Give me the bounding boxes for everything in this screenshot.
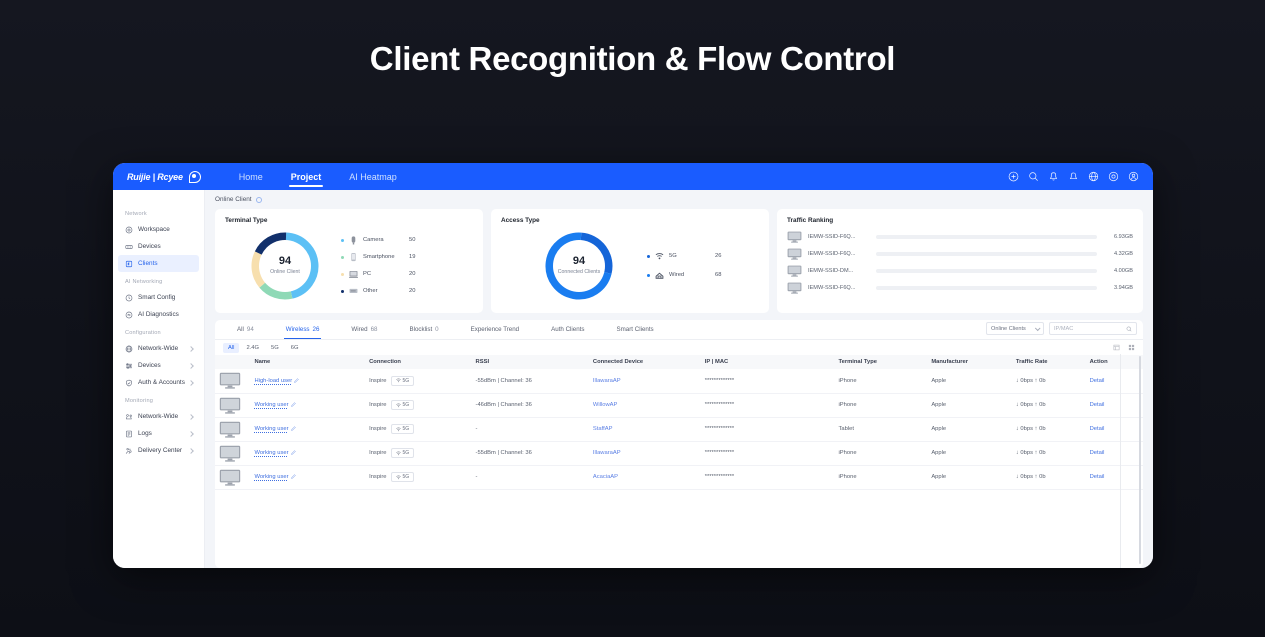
reyee-logo-icon	[189, 171, 201, 183]
traffic-device-name: IEMW-SSID-F6Q...	[808, 285, 870, 291]
clients-table: NameConnectionRSSIConnected DeviceIP | M…	[215, 355, 1143, 490]
clients-table-head: NameConnectionRSSIConnected DeviceIP | M…	[215, 355, 1143, 369]
row-device-icon-cell	[215, 465, 250, 489]
sidebar-item-smart-config[interactable]: Smart Config	[118, 289, 199, 306]
tab-wired[interactable]: Wired68	[335, 320, 393, 339]
row-connected-device-cell: IllawaraAP	[589, 441, 701, 465]
detail-link[interactable]: Detail	[1090, 450, 1105, 456]
traffic-progress-bar	[876, 235, 1097, 239]
row-connection-cell: Inspire5G	[365, 417, 471, 441]
access-legend: 5G26Wired68	[647, 251, 721, 280]
row-terminal-type-cell: iPhone	[835, 369, 928, 393]
wifi-icon	[396, 475, 401, 480]
sidebar-item-devices[interactable]: Devices	[118, 357, 199, 374]
row-name-cell: Working user	[250, 441, 365, 465]
list-view-icon[interactable]	[1113, 344, 1120, 351]
legend-color-dot	[647, 255, 650, 258]
client-name-link[interactable]: High-load user	[254, 378, 292, 384]
legend-label: Wired	[669, 272, 715, 278]
row-action-cell: Detail	[1086, 369, 1143, 393]
row-device-icon-cell	[215, 441, 250, 465]
tab-label: Blocklist	[409, 326, 432, 333]
sliders-icon	[125, 362, 133, 370]
camera-icon	[349, 235, 358, 245]
connection-ssid: Inspire	[369, 426, 386, 432]
monitor-icon	[219, 397, 241, 414]
workspace-icon	[125, 226, 133, 234]
row-connected-device-cell: AcaciaAP	[589, 465, 701, 489]
detail-link[interactable]: Detail	[1090, 378, 1105, 384]
terminal-donut-center: 94 Online Client	[259, 240, 311, 292]
diagnostics-icon	[125, 311, 133, 319]
table-row[interactable]: Working userInspire5G-AcaciaAP**********…	[215, 465, 1143, 489]
column-header: Connection	[365, 355, 471, 369]
connected-device-link[interactable]: StaffAP	[593, 426, 613, 432]
row-device-icon-cell	[215, 369, 250, 393]
traffic-value: 4.32GB	[1103, 251, 1133, 257]
tab-blocklist[interactable]: Blocklist0	[393, 320, 454, 339]
slide-root: Client Recognition & Flow Control Ruijie…	[0, 0, 1265, 637]
card-terminal-type: Terminal Type 94 Online Client Camera50S…	[215, 209, 483, 313]
access-donut-center: 94 Connected Clients	[553, 240, 605, 292]
tab-smart-clients[interactable]: Smart Clients	[601, 320, 670, 339]
row-connection-cell: Inspire5G	[365, 369, 471, 393]
tab-label: All	[237, 326, 244, 333]
row-device-icon-cell	[215, 393, 250, 417]
legend-item: PC20	[341, 269, 415, 279]
terminal-legend: Camera50Smartphone19PC20Other20	[341, 235, 415, 296]
traffic-progress-bar	[876, 286, 1097, 290]
band-filter-5g[interactable]: 5G	[266, 343, 284, 353]
column-header: Manufacturer	[927, 355, 1012, 369]
chevron-right-icon	[188, 346, 194, 352]
legend-label: 5G	[669, 253, 715, 259]
edit-icon[interactable]	[294, 378, 299, 383]
tab-count: 68	[371, 326, 378, 333]
traffic-ranking-list: IEMW-SSID-F6Q...6.93GBIEMW-SSID-F6Q...4.…	[787, 226, 1133, 294]
traffic-progress-bar	[876, 252, 1097, 256]
topology-icon	[125, 413, 133, 421]
traffic-ranking-row[interactable]: IEMW-SSID-F6Q...4.32GB	[787, 248, 1133, 260]
detail-link[interactable]: Detail	[1090, 474, 1105, 480]
band-badge: 5G	[391, 448, 415, 458]
tab-count: 0	[435, 326, 438, 333]
sidebar-item-label: Network-Wide	[138, 413, 178, 420]
column-header: Connected Device	[589, 355, 701, 369]
connection-ssid: Inspire	[369, 450, 386, 456]
wifi-icon	[655, 251, 664, 261]
band-filter-all[interactable]: All	[223, 343, 239, 353]
column-header: Terminal Type	[835, 355, 928, 369]
traffic-ranking-row[interactable]: IEMW-SSID-DM...4.00GB	[787, 265, 1133, 277]
legend-value: 68	[715, 272, 721, 278]
monitor-icon	[787, 282, 802, 294]
sidebar-item-network-wide[interactable]: Network-Wide	[118, 408, 199, 425]
row-connection-cell: Inspire5G	[365, 393, 471, 417]
row-ipmac-cell: *************	[701, 417, 835, 441]
sidebar-item-network-wide[interactable]: Network-Wide	[118, 340, 199, 357]
device-icon	[125, 243, 133, 251]
band-subfilters: All2.4G5G6G	[215, 340, 1143, 355]
row-traffic-rate-cell: ↓ 0bps ↑ 0b	[1012, 465, 1086, 489]
sidebar-group-label: Monitoring	[113, 391, 204, 408]
band-badge: 5G	[391, 472, 415, 482]
chevron-right-icon	[188, 431, 194, 437]
tab-label: Auth Clients	[551, 326, 584, 333]
row-name-cell: Working user	[250, 465, 365, 489]
row-terminal-type-cell: iPhone	[835, 393, 928, 417]
row-rssi-cell: -	[472, 465, 589, 489]
app-window: Ruijie | Rcyee HomeProjectAI Heatmap Net…	[113, 163, 1153, 568]
sidebar-item-workspace[interactable]: Workspace	[118, 221, 199, 238]
brand-logo[interactable]: Ruijie | Rcyee	[127, 171, 201, 183]
edit-icon[interactable]	[291, 474, 296, 479]
band-filter-2-4g[interactable]: 2.4G	[241, 343, 264, 353]
pc-icon	[349, 269, 358, 279]
sidebar-item-clients[interactable]: Clients	[118, 255, 199, 272]
terminal-center-value: 94	[279, 256, 291, 267]
top-navigation-bar: Ruijie | Rcyee HomeProjectAI Heatmap	[113, 163, 1153, 190]
traffic-value: 6.93GB	[1103, 234, 1133, 240]
connected-device-link[interactable]: WillowAP	[593, 402, 617, 408]
legend-item: Camera50	[341, 235, 415, 245]
band-label: 5G	[403, 450, 410, 456]
chevron-right-icon	[188, 363, 194, 369]
legend-color-dot	[341, 273, 344, 276]
legend-label: Smartphone	[363, 254, 409, 260]
legend-label: Other	[363, 288, 409, 294]
row-manufacturer-cell: Apple	[927, 441, 1012, 465]
wifi-icon	[396, 403, 401, 408]
client-name-link[interactable]: Working user	[254, 450, 288, 456]
connection-ssid: Inspire	[369, 474, 386, 480]
client-name-link[interactable]: Working user	[254, 426, 288, 432]
tab-all[interactable]: All94	[221, 320, 270, 339]
monitor-icon	[787, 231, 802, 243]
detail-link[interactable]: Detail	[1090, 426, 1105, 432]
page-title: Client Recognition & Flow Control	[0, 40, 1265, 78]
table-row[interactable]: Working userInspire5G-46dBm | Channel: 3…	[215, 393, 1143, 417]
plus-circle-icon[interactable]	[1008, 171, 1019, 182]
sidebar-item-devices[interactable]: Devices	[118, 238, 199, 255]
tab-label: Smart Clients	[617, 326, 654, 333]
legend-value: 50	[409, 237, 415, 243]
client-status-value: Online Clients	[991, 326, 1026, 332]
row-terminal-type-cell: iPhone	[835, 465, 928, 489]
legend-item: Wired68	[647, 270, 721, 280]
legend-label: Camera	[363, 237, 409, 243]
row-connected-device-cell: IllawaraAP	[589, 369, 701, 393]
row-rssi-cell: -46dBm | Channel: 36	[472, 393, 589, 417]
row-connected-device-cell: WillowAP	[589, 393, 701, 417]
wifi-icon	[396, 427, 401, 432]
clients-table-body: High-load userInspire5G-55dBm | Channel:…	[215, 369, 1143, 489]
chevron-right-icon	[188, 380, 194, 386]
traffic-value: 4.00GB	[1103, 268, 1133, 274]
row-action-cell: Detail	[1086, 441, 1143, 465]
table-row[interactable]: Working userInspire5G-StaffAP***********…	[215, 417, 1143, 441]
client-status-select[interactable]: Online Clients	[986, 322, 1044, 335]
chevron-right-icon	[188, 448, 194, 454]
row-manufacturer-cell: Apple	[927, 369, 1012, 393]
detail-link[interactable]: Detail	[1090, 402, 1105, 408]
tab-label: Wireless	[286, 326, 310, 333]
search-icon[interactable]	[1126, 326, 1132, 332]
client-name-link[interactable]: Working user	[254, 402, 288, 408]
legend-color-dot	[647, 274, 650, 277]
column-header	[215, 355, 250, 369]
sidebar-item-label: Workspace	[138, 226, 170, 233]
access-donut-chart: 94 Connected Clients	[543, 230, 615, 302]
sidebar-item-label: Auth & Accounts	[138, 379, 185, 386]
top-nav-icon-group	[1008, 163, 1139, 190]
delivery-icon	[125, 447, 133, 455]
row-rssi-cell: -55dBm | Channel: 36	[472, 369, 589, 393]
panel-toolbar: Online Clients IP/MAC	[986, 322, 1137, 335]
row-rssi-cell: -	[472, 417, 589, 441]
edit-icon[interactable]	[291, 426, 296, 431]
row-ipmac-cell: *************	[701, 369, 835, 393]
monitor-icon	[219, 372, 241, 389]
card-access-type: Access Type 94 Connected Clients 5G26Wir…	[491, 209, 769, 313]
traffic-value: 3.94GB	[1103, 285, 1133, 291]
row-traffic-rate-cell: ↓ 0bps ↑ 0b	[1012, 369, 1086, 393]
sidebar-item-logs[interactable]: Logs	[118, 425, 199, 442]
connected-device-link[interactable]: IllawaraAP	[593, 450, 621, 456]
legend-label: PC	[363, 271, 409, 277]
row-connection-cell: Inspire5G	[365, 465, 471, 489]
logs-icon	[125, 430, 133, 438]
shield-icon	[125, 379, 133, 387]
search-input[interactable]: IP/MAC	[1054, 326, 1073, 332]
app-body: NetworkWorkspaceDevicesClientsAI Network…	[113, 190, 1153, 568]
edit-icon[interactable]	[291, 402, 296, 407]
traffic-ranking-row[interactable]: IEMW-SSID-F6Q...3.94GB	[787, 282, 1133, 294]
tab-wireless[interactable]: Wireless26	[270, 320, 336, 339]
other-icon	[349, 286, 358, 296]
card-traffic-ranking: Traffic Ranking IEMW-SSID-F6Q...6.93GBIE…	[777, 209, 1143, 313]
clients-panel: All94Wireless26Wired68Blocklist0Experien…	[215, 320, 1143, 568]
top-nav-item-ai-heatmap[interactable]: AI Heatmap	[335, 163, 411, 190]
table-row[interactable]: High-load userInspire5G-55dBm | Channel:…	[215, 369, 1143, 393]
main-content: Online Client Terminal Type 94	[205, 190, 1153, 568]
connected-device-link[interactable]: AcaciaAP	[593, 474, 618, 480]
sidebar-group-label: AI Networking	[113, 272, 204, 289]
legend-value: 26	[715, 253, 721, 259]
band-label: 5G	[403, 378, 410, 384]
band-badge: 5G	[391, 376, 415, 386]
tab-auth-clients[interactable]: Auth Clients	[535, 320, 600, 339]
traffic-ranking-row[interactable]: IEMW-SSID-F6Q...6.93GB	[787, 231, 1133, 243]
edit-icon[interactable]	[291, 450, 296, 455]
monitor-icon	[219, 421, 241, 438]
network-wide-icon	[125, 345, 133, 353]
sidebar-group-label: Network	[113, 204, 204, 221]
wired-icon	[655, 270, 664, 280]
row-rssi-cell: -55dBm | Channel: 36	[472, 441, 589, 465]
sidebar: NetworkWorkspaceDevicesClientsAI Network…	[113, 190, 205, 568]
sidebar-item-auth-accounts[interactable]: Auth & Accounts	[118, 374, 199, 391]
row-ipmac-cell: *************	[701, 465, 835, 489]
traffic-progress-bar	[876, 269, 1097, 273]
sidebar-item-label: AI Diagnostics	[138, 311, 179, 318]
monitor-icon	[787, 248, 802, 260]
sidebar-group-label: Configuration	[113, 323, 204, 340]
row-traffic-rate-cell: ↓ 0bps ↑ 0b	[1012, 417, 1086, 441]
traffic-device-name: IEMW-SSID-F6Q...	[808, 234, 870, 240]
card-title-terminal: Terminal Type	[225, 217, 473, 224]
row-connected-device-cell: StaffAP	[589, 417, 701, 441]
terminal-center-label: Online Client	[270, 269, 300, 275]
traffic-device-name: IEMW-SSID-DM...	[808, 268, 870, 274]
monitor-icon	[787, 265, 802, 277]
band-badge: 5G	[391, 424, 415, 434]
row-terminal-type-cell: Tablet	[835, 417, 928, 441]
breadcrumb: Online Client	[205, 190, 1153, 209]
row-manufacturer-cell: Apple	[927, 417, 1012, 441]
tab-label: Experience Trend	[471, 326, 520, 333]
top-nav-item-project[interactable]: Project	[277, 163, 336, 190]
row-action-cell: Detail	[1086, 393, 1143, 417]
brand-label: Ruijie | Rcyee	[127, 172, 183, 182]
column-header: Traffic Rate	[1012, 355, 1086, 369]
grid-view-icon[interactable]	[1128, 344, 1135, 351]
legend-value: 19	[409, 254, 415, 260]
sticky-column-divider	[1120, 354, 1121, 568]
row-device-icon-cell	[215, 417, 250, 441]
row-name-cell: Working user	[250, 393, 365, 417]
user-icon[interactable]	[1128, 171, 1139, 182]
monitor-icon	[219, 445, 241, 462]
row-ipmac-cell: *************	[701, 441, 835, 465]
chevron-down-icon	[1035, 325, 1041, 331]
sidebar-item-ai-diagnostics[interactable]: AI Diagnostics	[118, 306, 199, 323]
column-header: RSSI	[472, 355, 589, 369]
legend-item: 5G26	[647, 251, 721, 261]
sidebar-item-delivery-center[interactable]: Delivery Center	[118, 442, 199, 459]
legend-value: 20	[409, 271, 415, 277]
legend-color-dot	[341, 239, 344, 242]
row-connection-cell: Inspire5G	[365, 441, 471, 465]
traffic-device-name: IEMW-SSID-F6Q...	[808, 251, 870, 257]
legend-color-dot	[341, 290, 344, 293]
wifi-icon	[396, 378, 401, 383]
breadcrumb-label: Online Client	[215, 196, 252, 203]
row-traffic-rate-cell: ↓ 0bps ↑ 0b	[1012, 441, 1086, 465]
tab-experience-trend[interactable]: Experience Trend	[455, 320, 536, 339]
legend-value: 20	[409, 288, 415, 294]
row-action-cell: Detail	[1086, 417, 1143, 441]
tab-count: 26	[313, 326, 320, 333]
terminal-donut-chart: 94 Online Client	[249, 230, 321, 302]
table-row[interactable]: Working userInspire5G-55dBm | Channel: 3…	[215, 441, 1143, 465]
connection-ssid: Inspire	[369, 402, 386, 408]
row-ipmac-cell: *************	[701, 393, 835, 417]
band-label: 5G	[403, 474, 410, 480]
wifi-icon	[396, 451, 401, 456]
search-icon[interactable]	[1028, 171, 1039, 182]
alert-icon[interactable]	[1068, 171, 1079, 182]
row-name-cell: High-load user	[250, 369, 365, 393]
sidebar-item-label: Network-Wide	[138, 345, 178, 352]
column-header: IP | MAC	[701, 355, 835, 369]
refresh-icon[interactable]	[256, 197, 262, 203]
band-badge: 5G	[391, 400, 415, 410]
table-scrollbar[interactable]	[1139, 356, 1142, 564]
view-toggle-group	[1113, 344, 1143, 351]
smart-config-icon	[125, 294, 133, 302]
top-nav-item-home[interactable]: Home	[225, 163, 277, 190]
row-manufacturer-cell: Apple	[927, 465, 1012, 489]
search-box[interactable]: IP/MAC	[1049, 322, 1137, 335]
sidebar-item-label: Devices	[138, 362, 161, 369]
sidebar-item-label: Smart Config	[138, 294, 175, 301]
band-label: 5G	[403, 402, 410, 408]
legend-item: Smartphone19	[341, 252, 415, 262]
row-action-cell: Detail	[1086, 465, 1143, 489]
monitor-icon	[219, 469, 241, 486]
row-traffic-rate-cell: ↓ 0bps ↑ 0b	[1012, 393, 1086, 417]
card-title-traffic: Traffic Ranking	[787, 217, 1133, 224]
legend-item: Other20	[341, 286, 415, 296]
connection-ssid: Inspire	[369, 378, 386, 384]
client-name-link[interactable]: Working user	[254, 474, 288, 480]
smartphone-icon	[349, 252, 358, 262]
band-filter-6g[interactable]: 6G	[286, 343, 304, 353]
row-name-cell: Working user	[250, 417, 365, 441]
sidebar-item-label: Logs	[138, 430, 152, 437]
access-center-value: 94	[573, 256, 585, 267]
globe-icon[interactable]	[1088, 171, 1099, 182]
sidebar-item-label: Devices	[138, 243, 161, 250]
column-header: Action	[1086, 355, 1143, 369]
row-terminal-type-cell: iPhone	[835, 441, 928, 465]
row-manufacturer-cell: Apple	[927, 393, 1012, 417]
clients-icon	[125, 260, 133, 268]
legend-color-dot	[341, 256, 344, 259]
access-center-label: Connected Clients	[558, 269, 600, 275]
chevron-right-icon	[188, 414, 194, 420]
sidebar-item-label: Clients	[138, 260, 158, 267]
card-title-access: Access Type	[501, 217, 759, 224]
gear-icon[interactable]	[1108, 171, 1119, 182]
tab-label: Wired	[351, 326, 367, 333]
top-nav-menu: HomeProjectAI Heatmap	[225, 163, 411, 190]
sidebar-item-label: Delivery Center	[138, 447, 182, 454]
summary-cards: Terminal Type 94 Online Client Camera50S…	[205, 209, 1153, 313]
band-label: 5G	[403, 426, 410, 432]
bell-icon[interactable]	[1048, 171, 1059, 182]
connected-device-link[interactable]: IllawaraAP	[593, 378, 621, 384]
column-header: Name	[250, 355, 365, 369]
tab-count: 94	[247, 326, 254, 333]
